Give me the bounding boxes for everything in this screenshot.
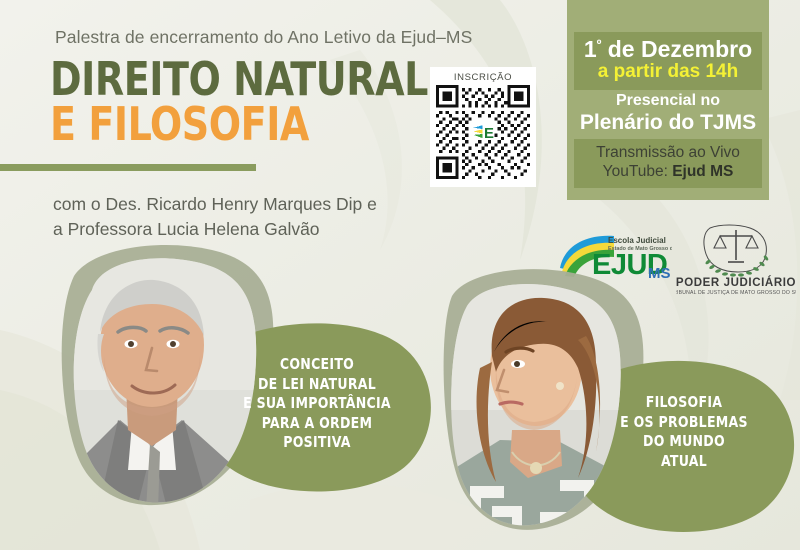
poster-title: Direito Natural e Filosofia: [50, 58, 461, 146]
title-line-2: e Filosofia: [50, 103, 428, 146]
speakers-line-2: a Professora Lucia Helena Galvão: [53, 217, 377, 242]
event-kicker: Palestra de encerramento do Ano Letivo d…: [55, 27, 472, 48]
date-box: 1º de Dezembro a partir das 14h: [574, 32, 762, 90]
speakers-line-1: com o Des. Ricardo Henry Marques Dip e: [53, 192, 377, 217]
title-line-1: Direito Natural: [50, 58, 428, 101]
venue-mode: Presencial no: [574, 92, 762, 111]
stream-box: Transmissão ao Vivo YouTube: Ejud MS: [574, 139, 762, 188]
callout1-line-2: de Lei Natural: [241, 375, 394, 395]
judiciary-title: PODER JUDICIÁRIO: [676, 276, 796, 289]
date-time: a partir das 14h: [578, 62, 758, 83]
qr-code-icon[interactable]: E: [436, 85, 530, 179]
callout2-line-3: do mundo: [612, 432, 756, 452]
stream-label: Transmissão ao Vivo: [578, 143, 758, 162]
speakers-line: com o Des. Ricardo Henry Marques Dip e a…: [53, 192, 377, 242]
ejud-tagline-1: Escola Judicial: [608, 236, 666, 245]
callout2-line-4: atual: [612, 452, 756, 472]
callout2-line-2: e os problemas: [612, 413, 756, 433]
callout1-line-4: para a ordem: [241, 414, 394, 434]
callout2-line-1: Filosofia: [612, 393, 756, 413]
callout-text-2: Filosofia e os problemas do mundo atual: [612, 393, 756, 471]
venue-place: Plenário do TJMS: [574, 111, 762, 135]
date-main: 1º de Dezembro: [578, 37, 758, 61]
judiciary-subtitle: TRIBUNAL DE JUSTIÇA DE MATO GROSSO DO SU…: [676, 290, 796, 296]
stream-channel[interactable]: YouTube: Ejud MS: [578, 162, 758, 181]
svg-text:E: E: [484, 126, 494, 142]
poder-judiciario-logo: PODER JUDICIÁRIO TRIBUNAL DE JUSTIÇA DE …: [676, 222, 796, 298]
callout1-line-1: Conceito: [241, 355, 394, 375]
venue-block: Presencial no Plenário do TJMS: [574, 92, 762, 134]
scales-of-justice-icon: [704, 225, 766, 272]
callout-text-1: Conceito de Lei Natural e sua importânci…: [241, 355, 394, 453]
ejud-suffix: MS: [648, 265, 671, 282]
event-details-sidebar: 1º de Dezembro a partir das 14h Presenci…: [567, 0, 769, 200]
logo-row: Escola Judicial Estado de Mato Grosso do…: [556, 222, 796, 300]
title-underline-rule: [0, 164, 256, 171]
registration-qr-card[interactable]: INSCRIÇÃO: [430, 67, 536, 187]
qr-label: INSCRIÇÃO: [436, 71, 530, 85]
callout1-line-3: e sua importância: [241, 394, 394, 414]
ejud-e-icon: E: [472, 124, 495, 142]
callout1-line-5: positiva: [241, 433, 394, 453]
event-poster: Palestra de encerramento do Ano Letivo d…: [0, 0, 800, 550]
ejud-logo: Escola Judicial Estado de Mato Grosso do…: [556, 228, 672, 284]
